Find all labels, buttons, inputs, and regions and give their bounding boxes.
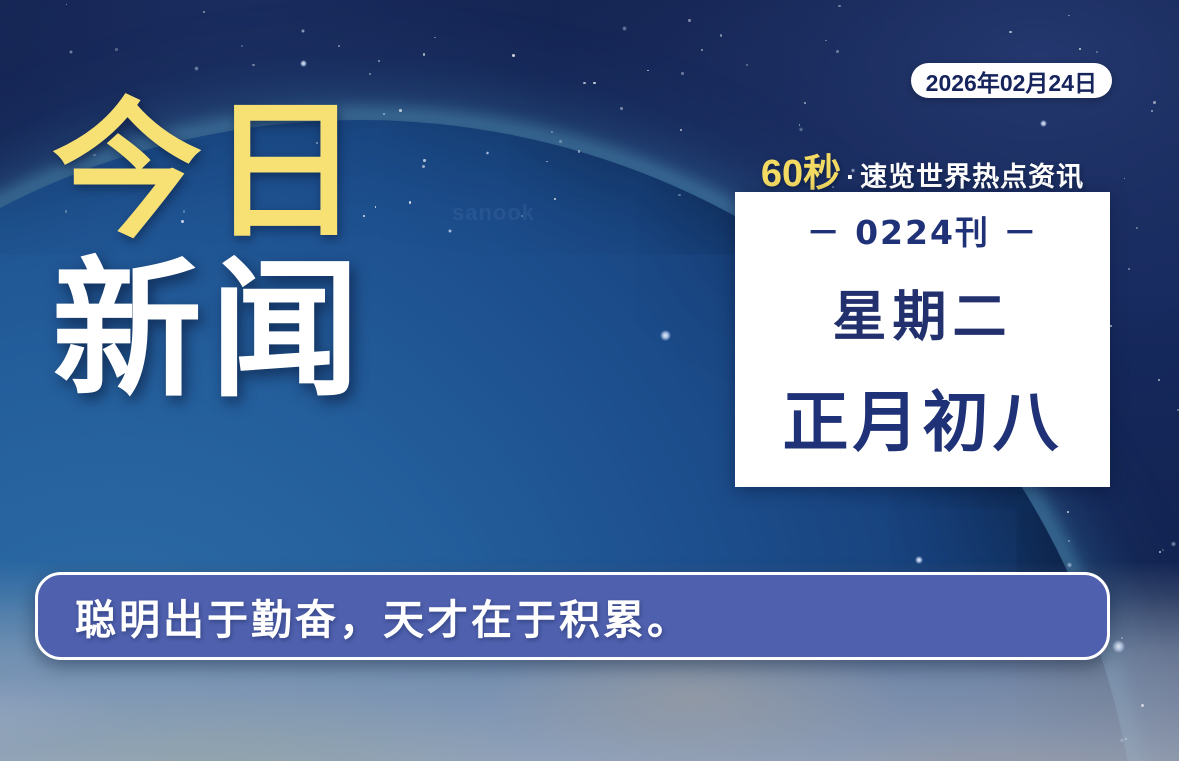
- title-line-xinwen: 新闻: [52, 255, 472, 408]
- title-line-jinri: 今日: [52, 96, 472, 249]
- date-info-card: － 0224刊 － 星期二 正月初八: [735, 192, 1110, 487]
- tagline-seconds: 60秒: [761, 142, 841, 197]
- quote-text: 聪明出于勤奋，天才在于积累。: [75, 586, 691, 646]
- news-poster: sanook 今日 新闻 2026年02月24日 60秒 · 速览世界热点资讯 …: [0, 0, 1179, 761]
- tagline-description: 速览世界热点资讯: [860, 155, 1084, 194]
- tagline: 60秒 · 速览世界热点资讯: [735, 142, 1110, 197]
- lunar-date-label: 正月初八: [783, 369, 1063, 465]
- weekday-label: 星期二: [833, 272, 1013, 351]
- quote-bar: 聪明出于勤奋，天才在于积累。: [35, 572, 1110, 660]
- date-badge: 2026年02月24日: [911, 63, 1112, 98]
- tagline-separator: ·: [846, 162, 855, 193]
- issue-number: － 0224刊 －: [807, 206, 1039, 254]
- poster-title: 今日 新闻: [52, 96, 472, 408]
